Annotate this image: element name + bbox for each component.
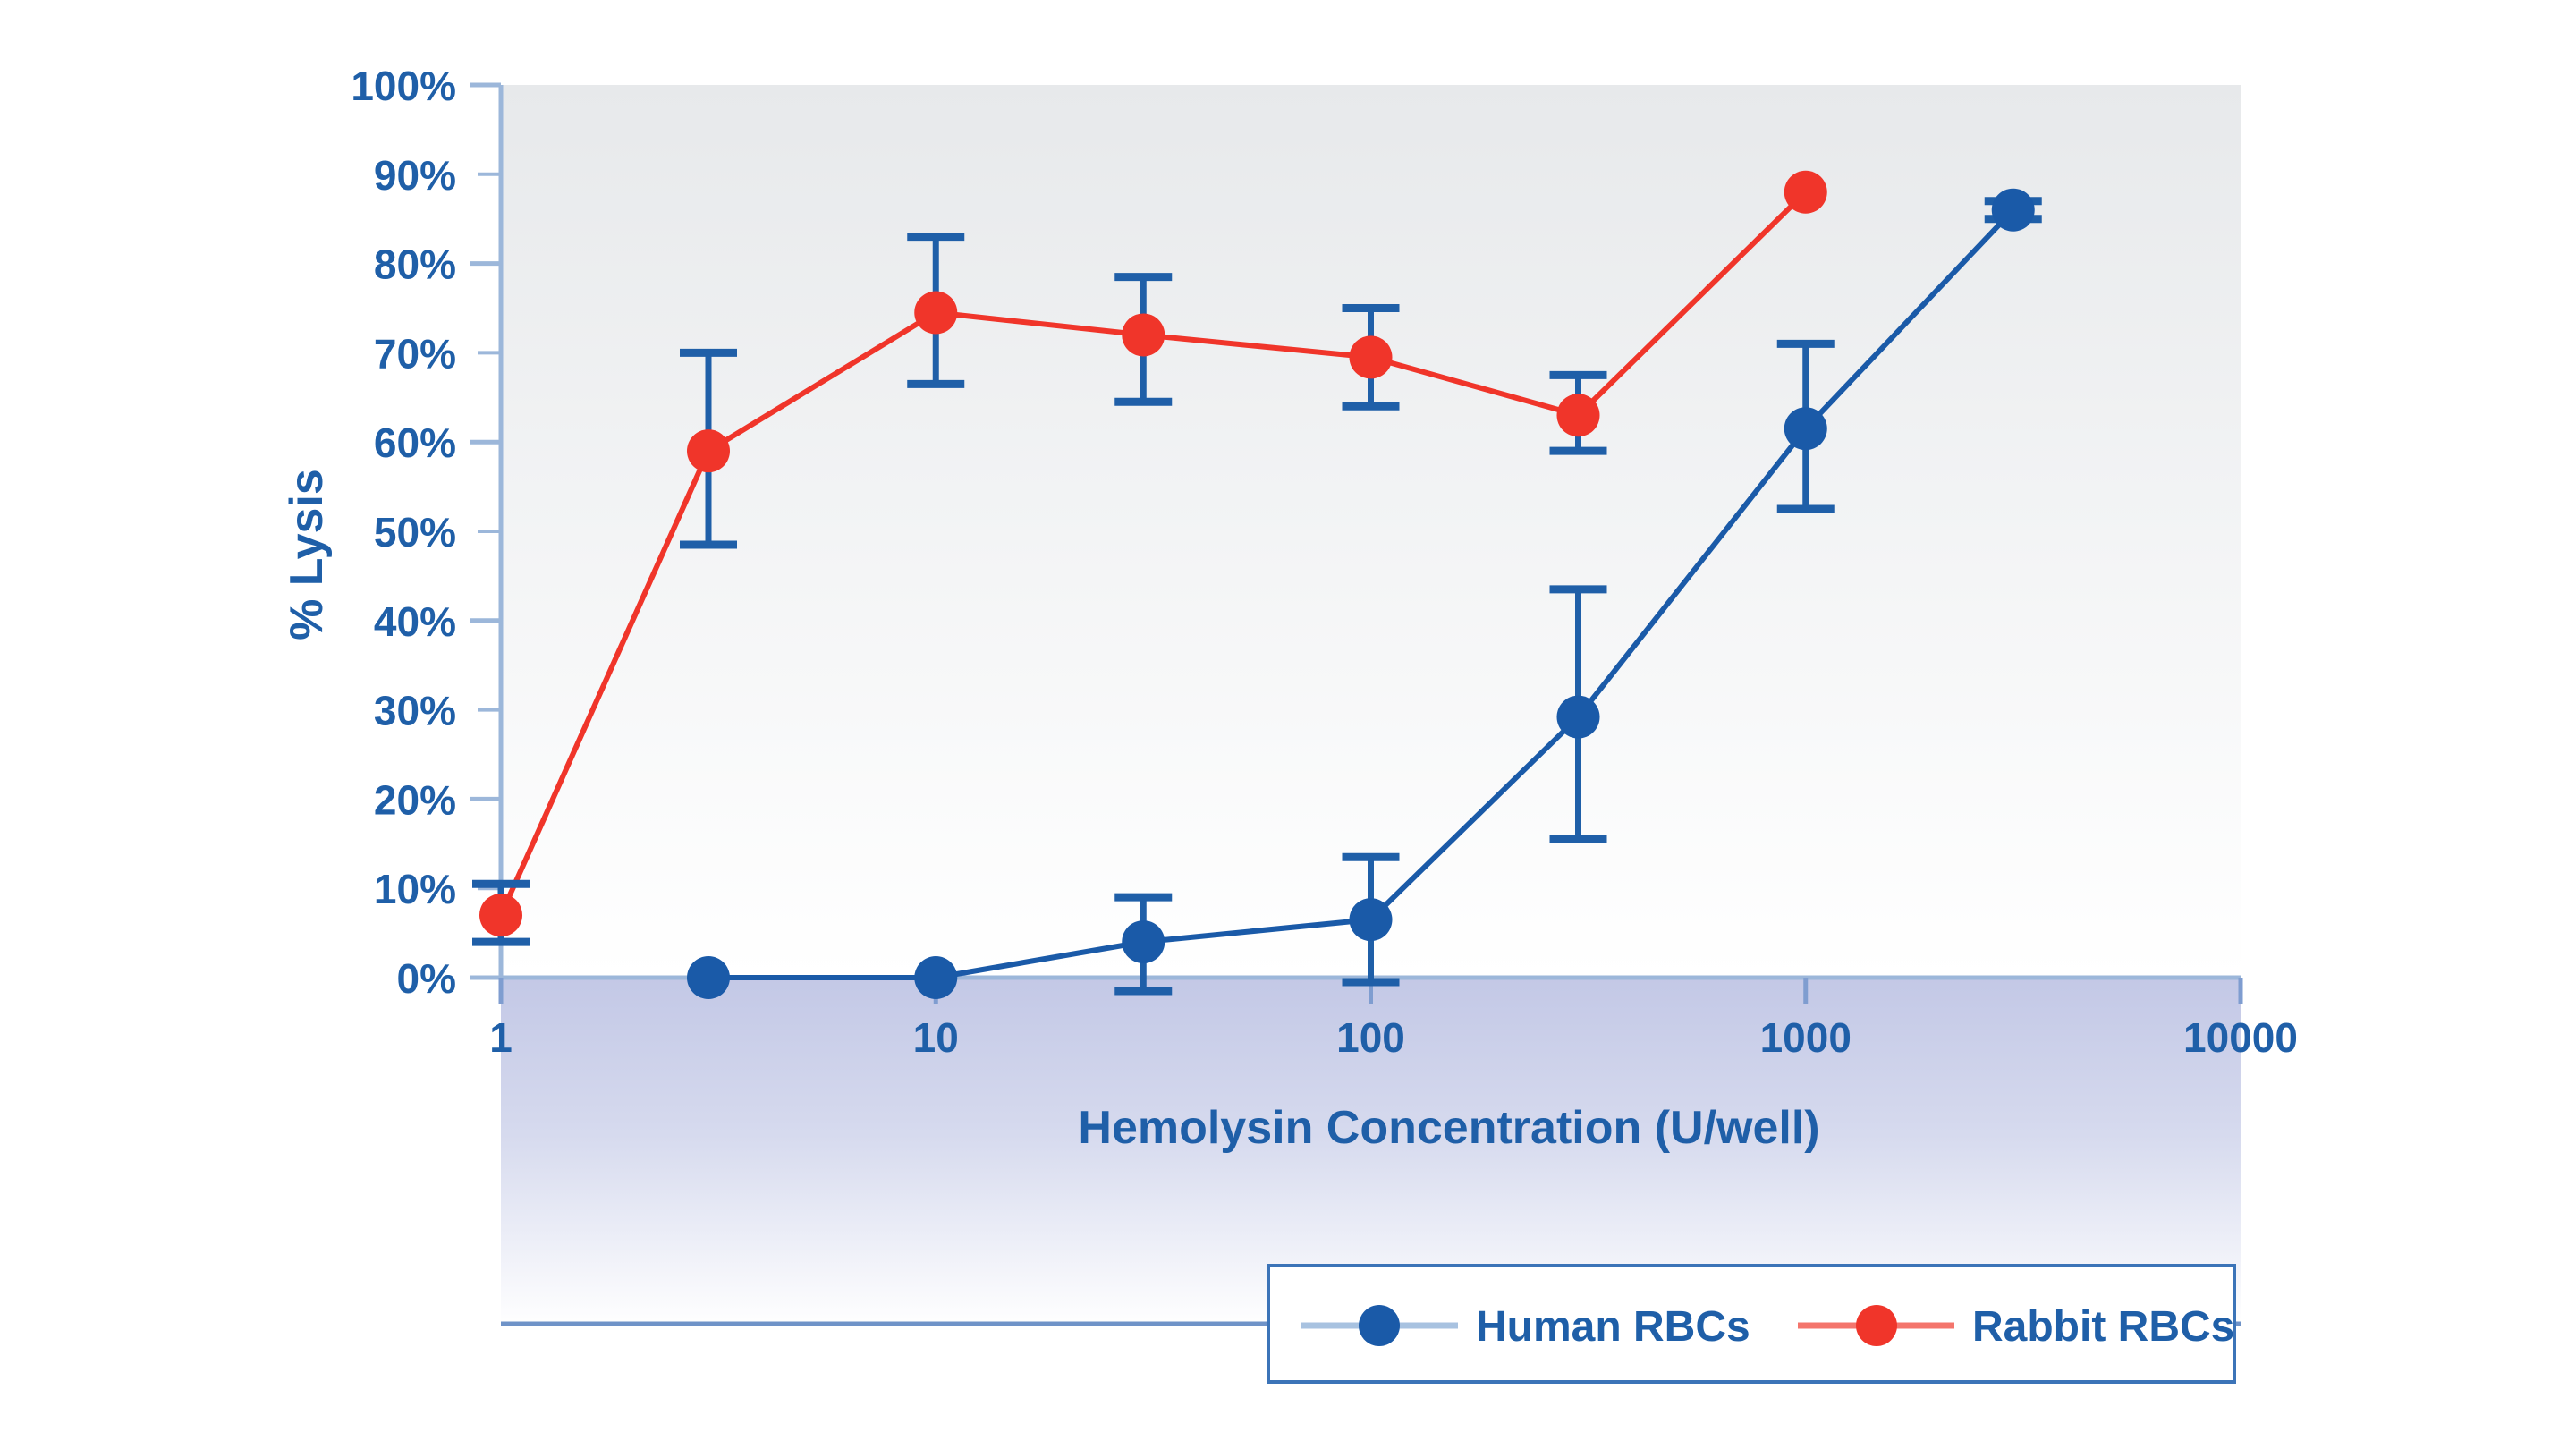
y-tick-label: 30%: [374, 688, 456, 734]
data-point: [1122, 313, 1165, 356]
y-tick-label: 80%: [374, 241, 456, 288]
data-point: [479, 894, 522, 936]
y-tick-label: 70%: [374, 330, 456, 377]
data-point: [1557, 696, 1600, 739]
data-point: [1784, 407, 1827, 450]
y-tick-label: 60%: [374, 419, 456, 466]
data-point: [1350, 335, 1393, 378]
x-tick-label: 100: [1336, 1014, 1405, 1061]
data-point: [1992, 189, 2035, 232]
y-tick-label: 90%: [374, 152, 456, 199]
x-axis-title: Hemolysin Concentration (U/well): [1078, 1102, 1819, 1154]
x-tick-label: 1000: [1760, 1014, 1851, 1061]
data-point: [687, 956, 730, 999]
y-tick-label: 0%: [397, 955, 456, 1002]
data-point: [914, 291, 957, 334]
legend-label-rabbit: Rabbit RBCs: [1972, 1303, 2234, 1351]
y-tick-label: 10%: [374, 866, 456, 912]
data-point: [914, 956, 957, 999]
data-point: [1784, 171, 1827, 214]
y-tick-label: 50%: [374, 509, 456, 555]
x-tick-label: 10000: [2183, 1014, 2298, 1061]
y-tick-label: 20%: [374, 776, 456, 823]
hemolysis-dose-response-chart: 0%10%20%30%40%50%60%70%80%90%100% 110100…: [0, 0, 2576, 1449]
plot-background: [501, 85, 2241, 978]
chart-figure: 0%10%20%30%40%50%60%70%80%90%100% 110100…: [0, 0, 2576, 1449]
legend-label-human: Human RBCs: [1476, 1303, 1750, 1351]
data-point: [687, 429, 730, 472]
data-point: [1350, 898, 1393, 941]
data-point: [1557, 394, 1600, 436]
y-axis-title: % Lysis: [281, 469, 333, 640]
legend-marker-rabbit: [1856, 1305, 1897, 1346]
x-tick-label: 10: [913, 1014, 959, 1061]
chart-legend: Human RBCs Rabbit RBCs: [1268, 1266, 2234, 1382]
legend-marker-human: [1359, 1305, 1400, 1346]
y-axis-ticks: 0%10%20%30%40%50%60%70%80%90%100%: [351, 63, 501, 1002]
y-tick-label: 100%: [351, 63, 456, 109]
x-tick-label: 1: [489, 1014, 513, 1061]
y-tick-label: 40%: [374, 598, 456, 645]
data-point: [1122, 920, 1165, 963]
